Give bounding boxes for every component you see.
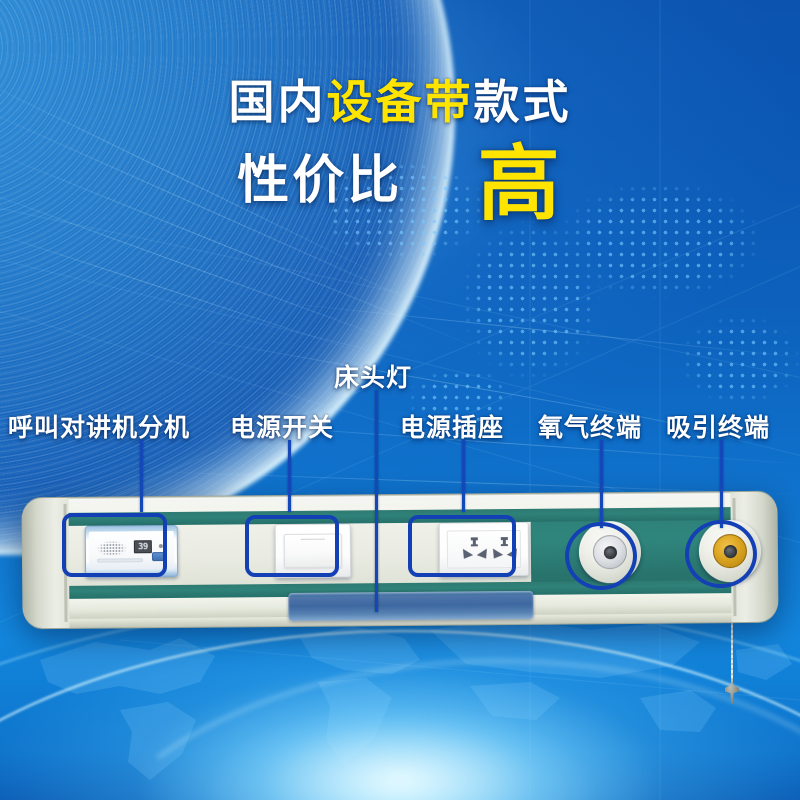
callout-label: 呼叫对讲机分机 [8, 408, 190, 444]
callout-leader-line [600, 440, 603, 528]
callout-label: 吸引终端 [666, 408, 770, 444]
callout-label: 电源插座 [400, 408, 504, 444]
callout-leader-line [375, 390, 378, 612]
callout-leader-line [720, 440, 723, 528]
callout-layer: 呼叫对讲机分机电源开关床头灯电源插座氧气终端吸引终端 [0, 0, 800, 800]
promo-banner: 国内设备带款式 性价比 高 呼叫对讲机分机电源开关床头灯电源插座氧气终端吸引终端… [0, 0, 800, 800]
callout-leader-line [140, 440, 143, 512]
callout-label: 电源开关 [230, 408, 334, 444]
callout-label: 床头灯 [334, 358, 412, 394]
callout-leader-line [462, 440, 465, 512]
callout-label: 氧气终端 [538, 408, 642, 444]
callout-leader-line [288, 440, 291, 512]
